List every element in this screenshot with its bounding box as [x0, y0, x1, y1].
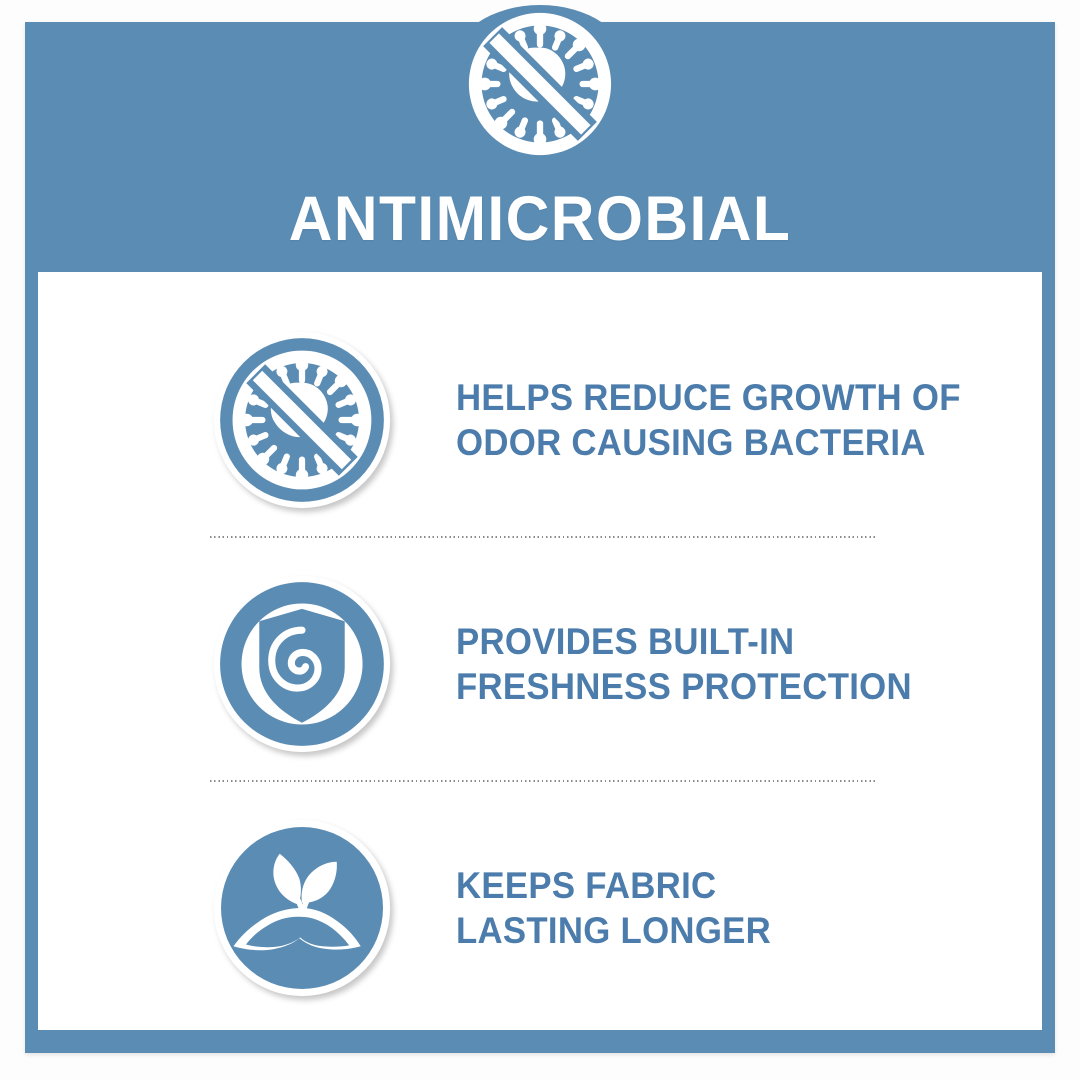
no-germs-icon: [213, 331, 391, 509]
feature-list: HELPS REDUCE GROWTH OF ODOR CAUSING BACT…: [38, 272, 1042, 1030]
list-item: PROVIDES BUILT-IN FRESHNESS PROTECTION: [38, 562, 1042, 766]
header-band: ANTIMICROBIAL: [25, 22, 1055, 270]
list-item-label: HELPS REDUCE GROWTH OF ODOR CAUSING BACT…: [456, 375, 961, 465]
page-title: ANTIMICROBIAL: [46, 188, 1035, 251]
list-item-label: PROVIDES BUILT-IN FRESHNESS PROTECTION: [456, 619, 912, 709]
antimicrobial-infographic: ANTIMICROBIAL: [0, 0, 1080, 1080]
list-item: KEEPS FABRIC LASTING LONGER: [38, 806, 1042, 1010]
divider: [210, 780, 875, 782]
list-item-label: KEEPS FABRIC LASTING LONGER: [456, 863, 771, 953]
shield-swirl-icon: [213, 575, 391, 753]
leaf-sprout-icon: [213, 819, 391, 997]
content-panel: HELPS REDUCE GROWTH OF ODOR CAUSING BACT…: [38, 272, 1042, 1030]
no-germs-icon: [461, 5, 619, 163]
list-item: HELPS REDUCE GROWTH OF ODOR CAUSING BACT…: [38, 318, 1042, 522]
divider: [210, 536, 875, 538]
